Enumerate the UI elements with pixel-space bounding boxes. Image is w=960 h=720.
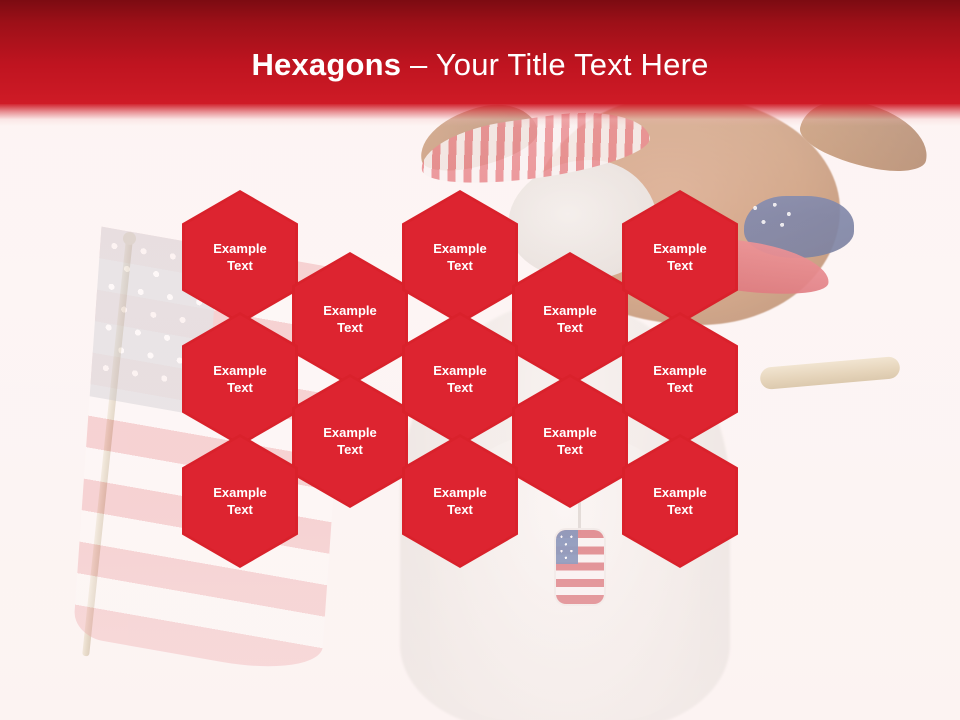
title-banner-fade bbox=[0, 104, 960, 126]
hexagon-inner: Example Text bbox=[625, 315, 735, 443]
hexagon-label: Example Text bbox=[307, 302, 393, 336]
hexagon-shape[interactable]: Example Text bbox=[402, 190, 518, 324]
hexagon-inner: Example Text bbox=[625, 193, 735, 321]
hexagon-inner: Example Text bbox=[295, 255, 405, 383]
hexagon-label: Example Text bbox=[417, 362, 503, 396]
hexagon-inner: Example Text bbox=[185, 193, 295, 321]
hexagon-shape[interactable]: Example Text bbox=[512, 252, 628, 386]
hexagon-label: Example Text bbox=[197, 240, 283, 274]
hexagon-inner: Example Text bbox=[295, 377, 405, 505]
hexagon-label: Example Text bbox=[417, 484, 503, 518]
hexagon-inner: Example Text bbox=[405, 315, 515, 443]
hexagon-shape[interactable]: Example Text bbox=[292, 252, 408, 386]
hexagon-label: Example Text bbox=[527, 424, 613, 458]
hexagon-inner: Example Text bbox=[515, 255, 625, 383]
hexagon-shape[interactable]: Example Text bbox=[402, 312, 518, 446]
hexagon-inner: Example Text bbox=[185, 437, 295, 565]
hexagon-shape[interactable]: Example Text bbox=[182, 190, 298, 324]
hexagon-shape[interactable]: Example Text bbox=[182, 434, 298, 568]
page-title-rest: – Your Title Text Here bbox=[401, 47, 708, 82]
hexagon-shape[interactable]: Example Text bbox=[622, 190, 738, 324]
hexagon-shape[interactable]: Example Text bbox=[182, 312, 298, 446]
hexagon-shape[interactable]: Example Text bbox=[622, 312, 738, 446]
hexagon-shape[interactable]: Example Text bbox=[402, 434, 518, 568]
presentation-slide: Hexagons – Your Title Text Here Example … bbox=[0, 0, 960, 720]
hexagon-label: Example Text bbox=[417, 240, 503, 274]
hexagon-inner: Example Text bbox=[185, 315, 295, 443]
hexagon-shape[interactable]: Example Text bbox=[512, 374, 628, 508]
hexagon-label: Example Text bbox=[637, 484, 723, 518]
hexagon-shape[interactable]: Example Text bbox=[292, 374, 408, 508]
hexagon-inner: Example Text bbox=[405, 193, 515, 321]
page-title-bold: Hexagons bbox=[251, 47, 401, 82]
page-title: Hexagons – Your Title Text Here bbox=[0, 46, 960, 84]
hexagon-label: Example Text bbox=[197, 484, 283, 518]
hexagon-label: Example Text bbox=[527, 302, 613, 336]
hexagon-label: Example Text bbox=[197, 362, 283, 396]
hexagon-label: Example Text bbox=[637, 362, 723, 396]
hexagon-shape[interactable]: Example Text bbox=[622, 434, 738, 568]
hexagon-inner: Example Text bbox=[405, 437, 515, 565]
hexagon-inner: Example Text bbox=[625, 437, 735, 565]
hexagon-label: Example Text bbox=[637, 240, 723, 274]
hexagon-label: Example Text bbox=[307, 424, 393, 458]
hexagon-inner: Example Text bbox=[515, 377, 625, 505]
